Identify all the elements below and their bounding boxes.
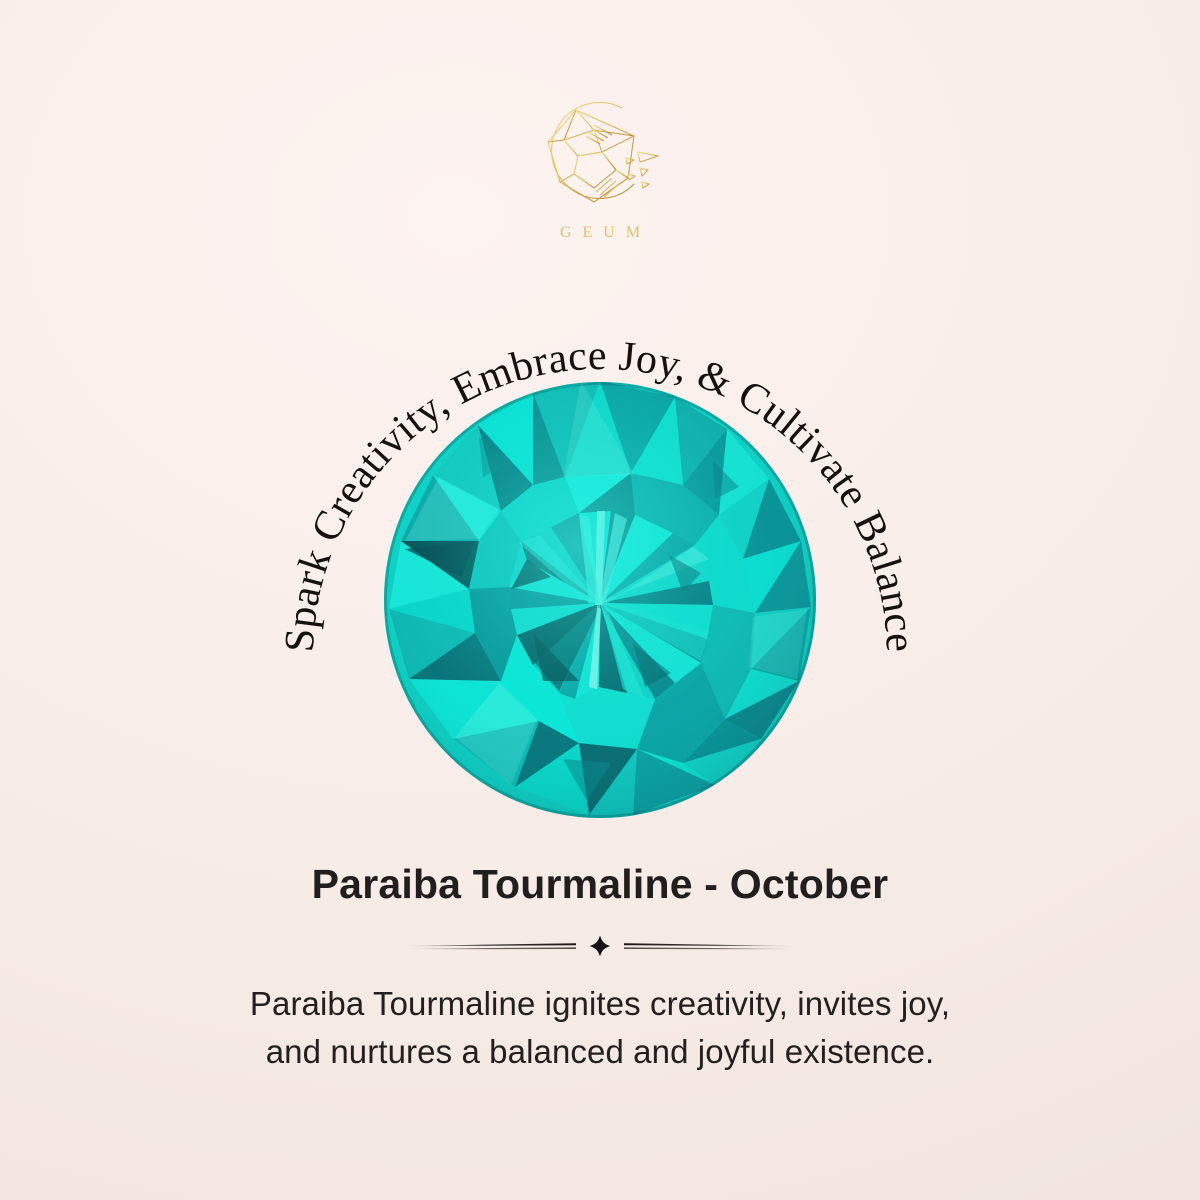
description-line-2: and nurtures a balanced and joyful exist… <box>0 1028 1200 1076</box>
brand-logo: GEUM <box>0 100 1200 242</box>
four-point-diamond-ornament <box>590 936 611 957</box>
description-line-1: Paraiba Tourmaline ignites creativity, i… <box>0 980 1200 1028</box>
poster-canvas: GEUM Spark Creativity, Embrace Joy, & Cu… <box>0 0 1200 1200</box>
gemstone-title: Paraiba Tourmaline - October <box>0 861 1200 908</box>
brand-wordmark: GEUM <box>549 224 651 242</box>
gemstone-description: Paraiba Tourmaline ignites creativity, i… <box>0 980 1200 1076</box>
gemstone-image <box>383 381 817 819</box>
faceted-gem-logo-icon <box>530 100 670 212</box>
ornamental-divider <box>400 931 800 961</box>
